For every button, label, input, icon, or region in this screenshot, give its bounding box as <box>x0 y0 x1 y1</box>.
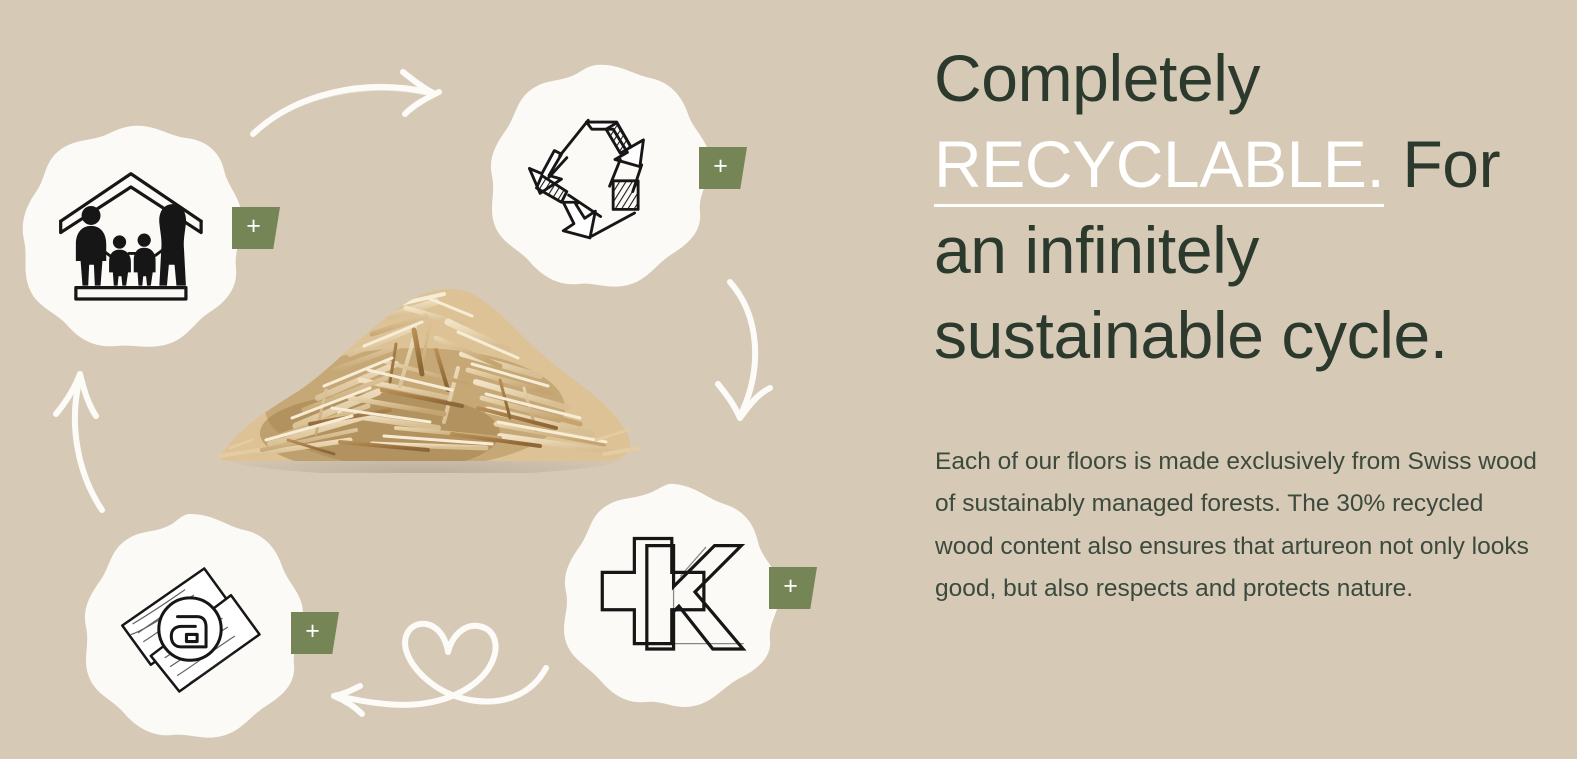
heart-arrow-left-icon <box>320 608 552 720</box>
expand-badge-wood-planks[interactable]: + <box>291 612 339 654</box>
expand-badge-home[interactable]: + <box>232 207 280 249</box>
plus-icon: + <box>305 619 320 644</box>
cycle-node-wood-planks[interactable] <box>76 512 306 742</box>
cycle-node-home[interactable] <box>16 122 246 352</box>
recycling-arrows-icon <box>523 106 675 249</box>
text-content-panel: Completely RECYCLABLE. For an infinitely… <box>934 0 1554 759</box>
cycle-node-recycle[interactable] <box>484 62 714 292</box>
headline-part-1: Completely <box>934 41 1260 115</box>
swiss-cross-k-icon <box>595 526 747 669</box>
recycling-cycle-diagram: + <box>0 0 900 759</box>
body-paragraph: Each of our floors is made exclusively f… <box>935 441 1543 611</box>
cycle-node-swiss-quality[interactable] <box>556 482 786 712</box>
family-under-roof-icon <box>55 166 207 309</box>
wood-planks-artureon-logo-icon <box>115 556 267 699</box>
plus-icon: + <box>713 154 728 179</box>
plus-icon: + <box>783 574 798 599</box>
curved-arrow-down-icon <box>700 268 812 430</box>
expand-badge-swiss-quality[interactable]: + <box>769 567 817 609</box>
curved-arrow-up-icon <box>40 358 152 520</box>
sustainability-cycle-section: + <box>0 0 1577 759</box>
curved-arrow-right-icon <box>243 58 463 150</box>
headline-accent-recyclable: RECYCLABLE. <box>934 127 1384 207</box>
page-title: Completely RECYCLABLE. For an infinitely… <box>934 36 1546 379</box>
plus-icon: + <box>246 214 261 239</box>
expand-badge-recycle[interactable]: + <box>699 147 747 189</box>
